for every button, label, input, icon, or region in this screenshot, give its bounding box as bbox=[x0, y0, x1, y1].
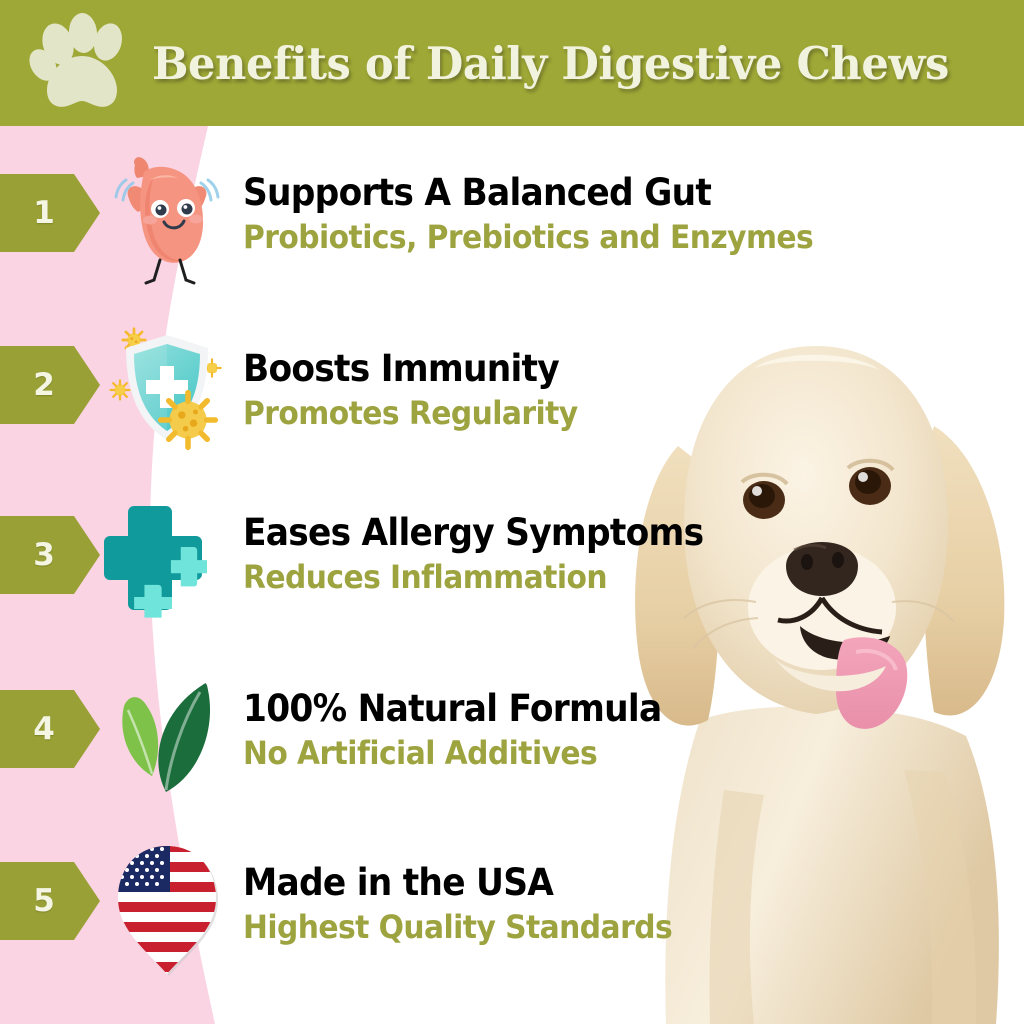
benefits-list: 1 bbox=[0, 126, 1024, 1024]
benefit-number-2: 2 bbox=[0, 346, 88, 424]
paw-print-icon bbox=[22, 12, 142, 116]
benefit-subtitle-1: Probiotics, Prebiotics and Enzymes bbox=[243, 218, 857, 256]
stomach-character-icon bbox=[104, 150, 230, 290]
shield-germs-icon bbox=[104, 322, 230, 462]
header-banner: Benefits of Daily Digestive Chews bbox=[0, 0, 1024, 126]
benefit-text-5: Made in the USA Highest Quality Standard… bbox=[243, 862, 903, 946]
benefit-number-5: 5 bbox=[0, 862, 88, 940]
benefit-title-5: Made in the USA bbox=[243, 862, 857, 904]
benefit-row-3[interactable]: 3 Eases Allergy Symptoms Reduces Inflamm… bbox=[0, 492, 900, 652]
benefit-row-5[interactable]: 5 bbox=[0, 838, 900, 998]
page-title: Benefits of Daily Digestive Chews bbox=[152, 0, 978, 126]
benefit-title-1: Supports A Balanced Gut bbox=[243, 172, 857, 214]
benefit-subtitle-5: Highest Quality Standards bbox=[243, 908, 857, 946]
usa-flag-pin-icon bbox=[104, 838, 230, 978]
benefit-number-4: 4 bbox=[0, 690, 88, 768]
benefit-number-3: 3 bbox=[0, 516, 88, 594]
benefit-subtitle-4: No Artificial Additives bbox=[243, 734, 857, 772]
benefit-text-1: Supports A Balanced Gut Probiotics, Preb… bbox=[243, 172, 903, 256]
benefit-text-3: Eases Allergy Symptoms Reduces Inflammat… bbox=[243, 512, 903, 596]
benefit-row-2[interactable]: 2 bbox=[0, 322, 900, 482]
benefit-title-2: Boosts Immunity bbox=[243, 348, 857, 390]
benefit-row-4[interactable]: 4 100% Natural Formula No Artificial Add… bbox=[0, 666, 900, 826]
benefit-row-1[interactable]: 1 bbox=[0, 150, 900, 310]
benefit-subtitle-2: Promotes Regularity bbox=[243, 394, 857, 432]
benefit-subtitle-3: Reduces Inflammation bbox=[243, 558, 857, 596]
benefit-text-4: 100% Natural Formula No Artificial Addit… bbox=[243, 688, 903, 772]
leaves-icon bbox=[104, 666, 230, 806]
benefits-infographic: Benefits of Daily Digestive Chews bbox=[0, 0, 1024, 1024]
benefit-number-1: 1 bbox=[0, 174, 88, 252]
benefit-title-4: 100% Natural Formula bbox=[243, 688, 857, 730]
medical-cross-icon bbox=[104, 492, 230, 632]
benefit-text-2: Boosts Immunity Promotes Regularity bbox=[243, 348, 903, 432]
benefit-title-3: Eases Allergy Symptoms bbox=[243, 512, 857, 554]
